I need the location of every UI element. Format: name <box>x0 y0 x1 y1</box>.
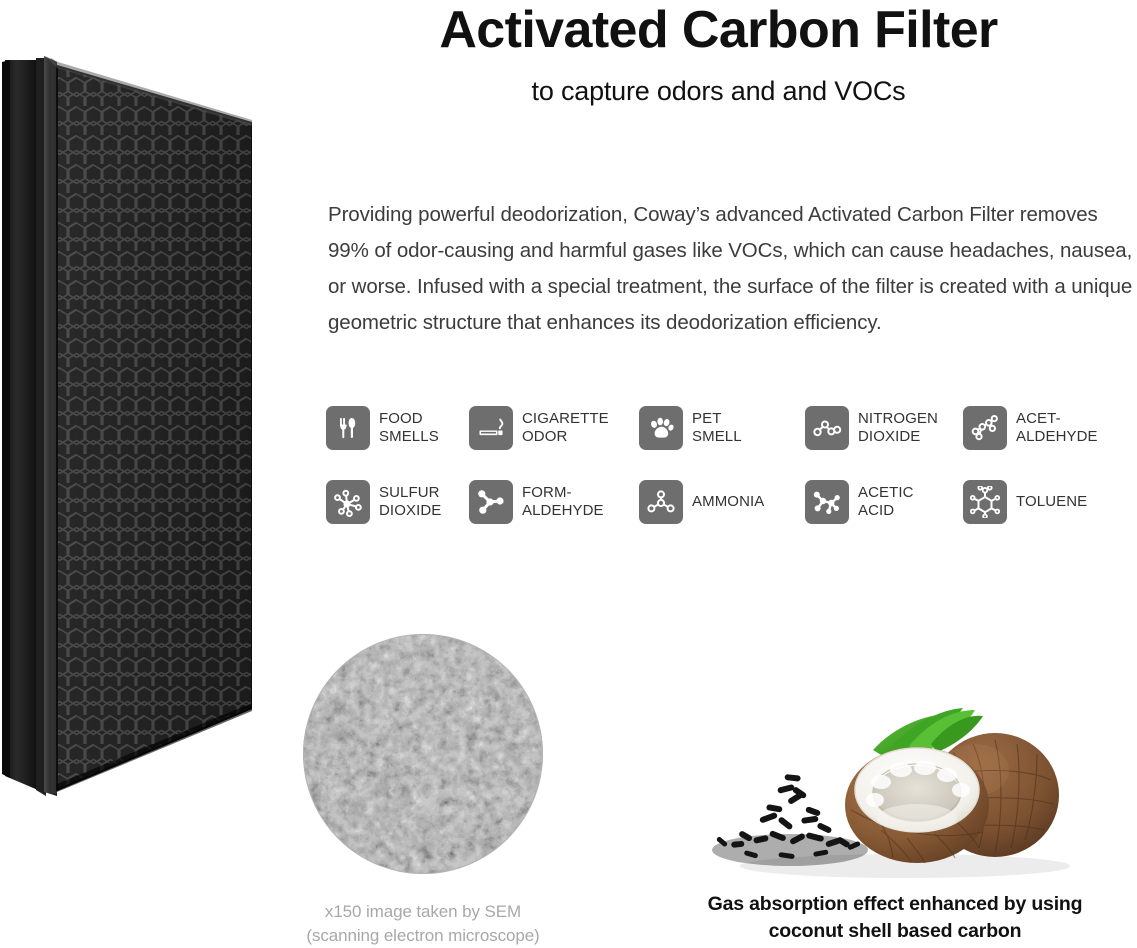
icon-item-nitrogen-dioxide: NITROGEN DIOXIDE <box>805 406 938 450</box>
nitrogen-dioxide-molecule-icon <box>805 406 849 450</box>
icon-item-ammonia: AMMONIA <box>639 480 764 524</box>
sem-figure: x150 image taken by SEM (scanning electr… <box>303 634 543 948</box>
icon-item-cigarette-odor: CIGARETTE ODOR <box>469 406 609 450</box>
icon-item-formaldehyde: FORM- ALDEHYDE <box>469 480 604 524</box>
icon-label: FORM- ALDEHYDE <box>522 484 604 520</box>
ammonia-molecule-icon <box>639 480 683 524</box>
icon-item-toluene: TOLUENE <box>963 480 1087 524</box>
icon-label: TOLUENE <box>1016 493 1087 511</box>
icon-row-1: FOOD SMELLS CIGARETTE ODOR <box>326 406 1126 480</box>
filter-product-photo <box>0 48 252 800</box>
icon-label: FOOD SMELLS <box>379 410 439 446</box>
acetaldehyde-molecule-icon <box>963 406 1007 450</box>
coconut-figure: Gas absorption effect enhanced by using … <box>660 690 1130 945</box>
icon-label: NITROGEN DIOXIDE <box>858 410 938 446</box>
icon-label: SULFUR DIOXIDE <box>379 484 441 520</box>
odor-types-grid: FOOD SMELLS CIGARETTE ODOR <box>326 406 1126 554</box>
paw-print-icon <box>639 406 683 450</box>
fork-knife-icon <box>326 406 370 450</box>
icon-label: CIGARETTE ODOR <box>522 410 609 446</box>
icon-label: ACET- ALDEHYDE <box>1016 410 1098 446</box>
icon-row-2: SULFUR DIOXIDE F <box>326 480 1126 554</box>
page-subtitle: to capture odors and and VOCs <box>300 56 1137 107</box>
icon-item-acetic-acid: ACETIC ACID <box>805 480 914 524</box>
carbon-pellets-pile <box>712 774 868 866</box>
half-coconut <box>845 747 989 863</box>
coconut-and-activated-carbon-pellets <box>660 690 1130 885</box>
description-paragraph: Providing powerful deodorization, Coway’… <box>328 197 1137 341</box>
icon-item-sulfur-dioxide: SULFUR DIOXIDE <box>326 480 441 524</box>
activated-carbon-honeycomb-filter-panel <box>0 48 252 800</box>
coconut-caption: Gas absorption effect enhanced by using … <box>660 891 1130 945</box>
acetic-acid-molecule-icon <box>805 480 849 524</box>
sem-micrograph-carbon-surface <box>303 634 543 874</box>
icon-item-food-smells: FOOD SMELLS <box>326 406 439 450</box>
icon-item-pet-smell: PET SMELL <box>639 406 742 450</box>
icon-label: AMMONIA <box>692 493 764 511</box>
header: Activated Carbon Filter to capture odors… <box>300 0 1137 107</box>
page-title: Activated Carbon Filter <box>300 0 1137 56</box>
icon-item-acetaldehyde: ACET- ALDEHYDE <box>963 406 1098 450</box>
sem-caption: x150 image taken by SEM (scanning electr… <box>303 900 543 948</box>
cigarette-icon <box>469 406 513 450</box>
sulfur-dioxide-molecule-icon <box>326 480 370 524</box>
formaldehyde-molecule-icon <box>469 480 513 524</box>
toluene-molecule-icon <box>963 480 1007 524</box>
icon-label: ACETIC ACID <box>858 484 914 520</box>
icon-label: PET SMELL <box>692 410 742 446</box>
